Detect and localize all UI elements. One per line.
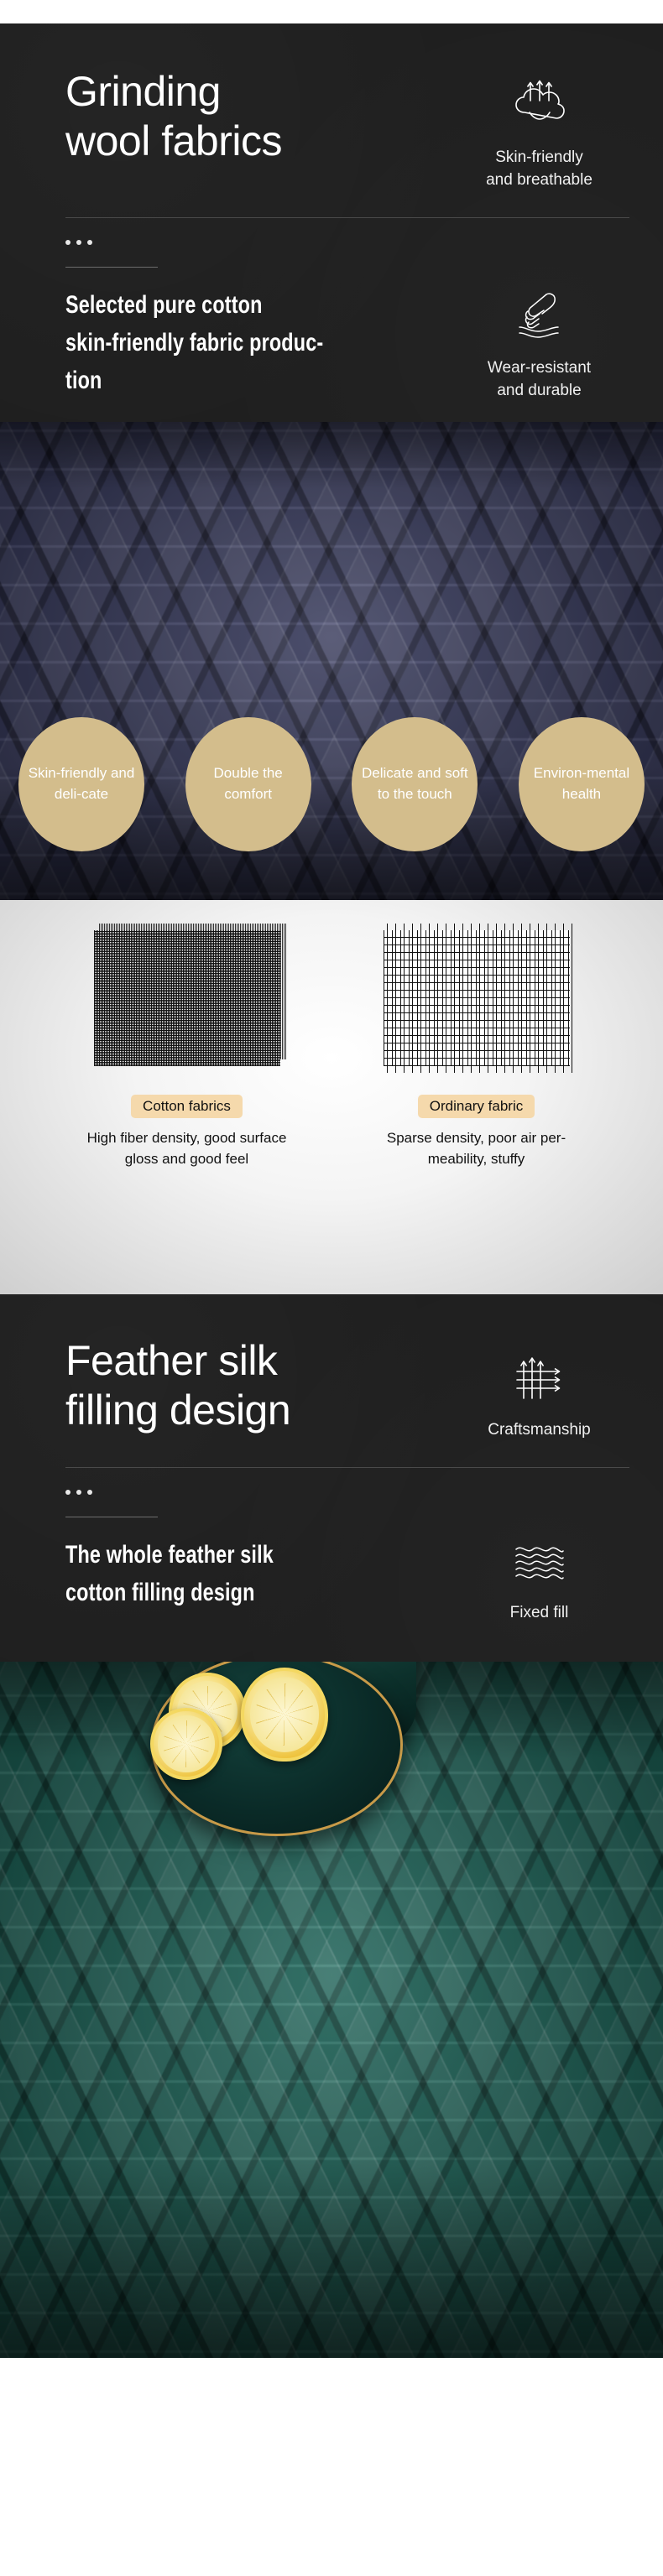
- ordinary-fabric-tag: Ordinary fabric: [418, 1095, 535, 1118]
- navy-fabric-photo: Skin-friendly and deli-cate Double the c…: [0, 422, 663, 900]
- divider-long-top-2: [65, 1467, 629, 1468]
- feather-title-block: Feather silk filling design: [65, 1336, 449, 1435]
- hand-touching-fabric-icon: [508, 289, 572, 347]
- gold-rim-plate: [151, 1662, 403, 1836]
- feature-badge-row: Skin-friendly and deli-cate Double the c…: [0, 717, 663, 851]
- top-white-strip: [0, 0, 663, 23]
- badge-label: Delicate and soft to the touch: [360, 763, 469, 804]
- section-subtitle-secondary: The whole feather silk cotton filling de…: [65, 1536, 448, 1611]
- stacked-waves-icon: [508, 1541, 572, 1592]
- breathable-cloud-icon: [508, 75, 572, 137]
- grinding-header-row: Grinding wool fabrics Skin-friendly and …: [65, 67, 629, 192]
- ellipsis-dots: [65, 240, 629, 245]
- badge-environmental-health[interactable]: Environ-mental health: [519, 717, 645, 851]
- feather-subtitle-row: The whole feather silk cotton filling de…: [65, 1536, 629, 1625]
- grinding-subtitle-row: Selected pure cotton skin-friendly fabri…: [65, 286, 629, 403]
- ordinary-fabric-description: Sparse density, poor air per-meability, …: [368, 1128, 586, 1169]
- comparison-col-cotton: Cotton fabrics High fiber density, good …: [67, 930, 306, 1169]
- feature-label-breathable: Skin-friendly and breathable: [486, 147, 593, 192]
- badge-skin-friendly[interactable]: Skin-friendly and deli-cate: [18, 717, 144, 851]
- lemon-half: [241, 1668, 328, 1762]
- page-title: Grinding wool fabrics: [65, 67, 449, 166]
- divider-long-top: [65, 217, 629, 218]
- feather-subtitle-block: The whole feather silk cotton filling de…: [65, 1536, 449, 1611]
- page-title-secondary: Feather silk filling design: [65, 1336, 449, 1435]
- comparison-columns: Cotton fabrics High fiber density, good …: [0, 900, 663, 1169]
- cotton-fabrics-description: High fiber density, good surface gloss a…: [78, 1128, 296, 1169]
- section-subtitle: Selected pure cotton skin-friendly fabri…: [65, 286, 448, 399]
- divider-short-2: [65, 1517, 158, 1517]
- sparse-weave-swatch: [384, 930, 570, 1066]
- feature-wear-resistant: Wear-resistant and durable: [449, 286, 629, 403]
- lemon-slice-bottom: [150, 1708, 222, 1780]
- fabric-comparison-section: Cotton fabrics High fiber density, good …: [0, 900, 663, 1294]
- badge-label: Environ-mental health: [527, 763, 636, 804]
- feature-label-wear-resistant: Wear-resistant and durable: [488, 357, 591, 403]
- badge-delicate-soft[interactable]: Delicate and soft to the touch: [352, 717, 478, 851]
- feature-fixed-fill: Fixed fill: [449, 1536, 629, 1625]
- badge-double-comfort[interactable]: Double the comfort: [185, 717, 311, 851]
- grinding-subtitle-block: Selected pure cotton skin-friendly fabri…: [65, 286, 449, 399]
- grinding-title-block: Grinding wool fabrics: [65, 67, 449, 166]
- badge-label: Skin-friendly and deli-cate: [27, 763, 136, 804]
- feature-craftsmanship: Craftsmanship: [449, 1336, 629, 1442]
- cotton-fabrics-tag: Cotton fabrics: [131, 1095, 243, 1118]
- feature-label-craftsmanship: Craftsmanship: [488, 1419, 591, 1442]
- dense-weave-swatch: [94, 930, 280, 1066]
- ellipsis-dots-2: [65, 1490, 629, 1495]
- weave-grid-arrows-icon: [510, 1351, 569, 1409]
- lemon-plate-still-life: [151, 1662, 403, 1836]
- grinding-wool-section: Grinding wool fabrics Skin-friendly and …: [0, 23, 663, 422]
- teal-fabric-photo: [0, 1662, 663, 2358]
- feature-label-fixed-fill: Fixed fill: [510, 1602, 569, 1625]
- feature-breathable: Skin-friendly and breathable: [449, 67, 629, 192]
- divider-short: [65, 267, 158, 268]
- badge-label: Double the comfort: [194, 763, 303, 804]
- feather-silk-section: Feather silk filling design Craftsmanshi…: [0, 1294, 663, 1662]
- feather-header-row: Feather silk filling design Craftsmanshi…: [65, 1336, 629, 1442]
- comparison-col-ordinary: Ordinary fabric Sparse density, poor air…: [357, 930, 596, 1169]
